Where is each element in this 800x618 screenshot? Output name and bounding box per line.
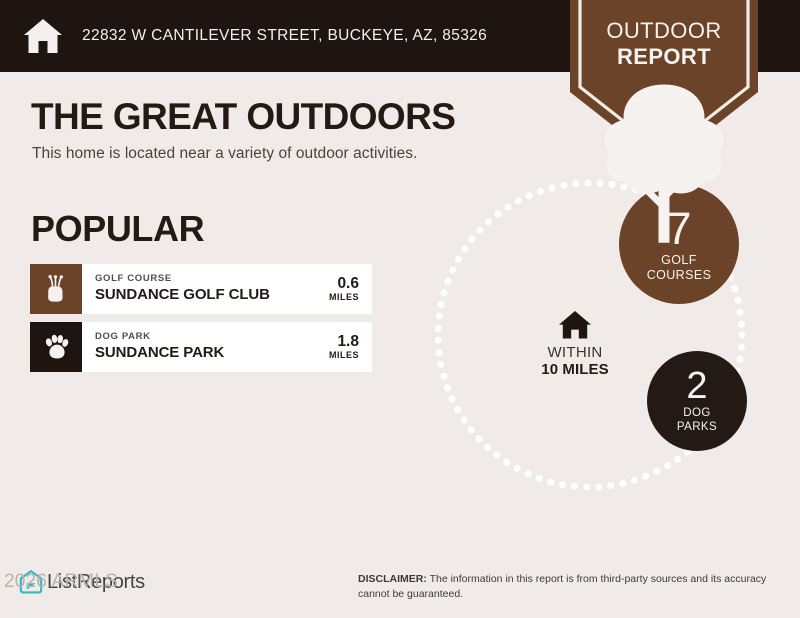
stat-label-line2: COURSES xyxy=(647,268,712,283)
page-subtitle: This home is located near a variety of o… xyxy=(32,145,417,163)
badge-title-line1: OUTDOOR xyxy=(570,18,758,44)
list-item[interactable]: DOG PARK SUNDANCE PARK 1.8 MILES xyxy=(30,322,372,372)
distance-value: 0.6 xyxy=(337,276,359,292)
list-item-category: GOLF COURSE xyxy=(95,274,329,284)
popular-list: GOLF COURSE SUNDANCE GOLF CLUB 0.6 MILES… xyxy=(30,264,372,380)
popular-section-title: POPULAR xyxy=(31,208,204,250)
stat-count: 2 xyxy=(686,367,707,405)
radius-line2: 10 MILES xyxy=(515,362,635,379)
golf-bag-icon xyxy=(30,264,82,314)
disclaimer: DISCLAIMER: The information in this repo… xyxy=(358,572,788,602)
tree-icon xyxy=(570,78,758,246)
list-item[interactable]: GOLF COURSE SUNDANCE GOLF CLUB 0.6 MILES xyxy=(30,264,372,314)
list-item-name: SUNDANCE PARK xyxy=(95,344,329,362)
stat-label: DOG PARKS xyxy=(677,407,717,434)
stat-label: GOLF COURSES xyxy=(647,253,712,283)
stat-label-line1: GOLF xyxy=(647,253,712,268)
stat-label-line2: PARKS xyxy=(677,421,717,435)
mls-watermark: 2026 ARMLS xyxy=(4,571,118,593)
list-item-name: SUNDANCE GOLF CLUB xyxy=(95,286,329,304)
list-item-category: DOG PARK xyxy=(95,332,329,342)
stat-label-line1: DOG xyxy=(677,407,717,421)
home-icon xyxy=(515,310,635,340)
disclaimer-label: DISCLAIMER: xyxy=(358,573,427,585)
stat-dog-parks[interactable]: 2 DOG PARKS xyxy=(647,351,747,451)
badge-title: OUTDOOR REPORT xyxy=(570,18,758,70)
list-item-distance: 1.8 MILES xyxy=(329,322,372,372)
page-title: THE GREAT OUTDOORS xyxy=(31,96,455,138)
distance-unit: MILES xyxy=(329,292,359,302)
list-item-text: GOLF COURSE SUNDANCE GOLF CLUB xyxy=(82,264,329,314)
paw-print-icon xyxy=(30,322,82,372)
property-address: 22832 W CANTILEVER STREET, BUCKEYE, AZ, … xyxy=(82,27,487,45)
home-icon xyxy=(22,16,64,56)
list-item-distance: 0.6 MILES xyxy=(329,264,372,314)
radius-callout: WITHIN 10 MILES xyxy=(515,310,635,379)
outdoor-report-badge: OUTDOOR REPORT xyxy=(570,0,758,168)
list-item-text: DOG PARK SUNDANCE PARK xyxy=(82,322,329,372)
outdoor-report-page: 22832 W CANTILEVER STREET, BUCKEYE, AZ, … xyxy=(0,0,800,618)
distance-value: 1.8 xyxy=(337,334,359,350)
badge-title-line2: REPORT xyxy=(570,44,758,70)
radius-line1: WITHIN xyxy=(515,345,635,362)
distance-unit: MILES xyxy=(329,350,359,360)
